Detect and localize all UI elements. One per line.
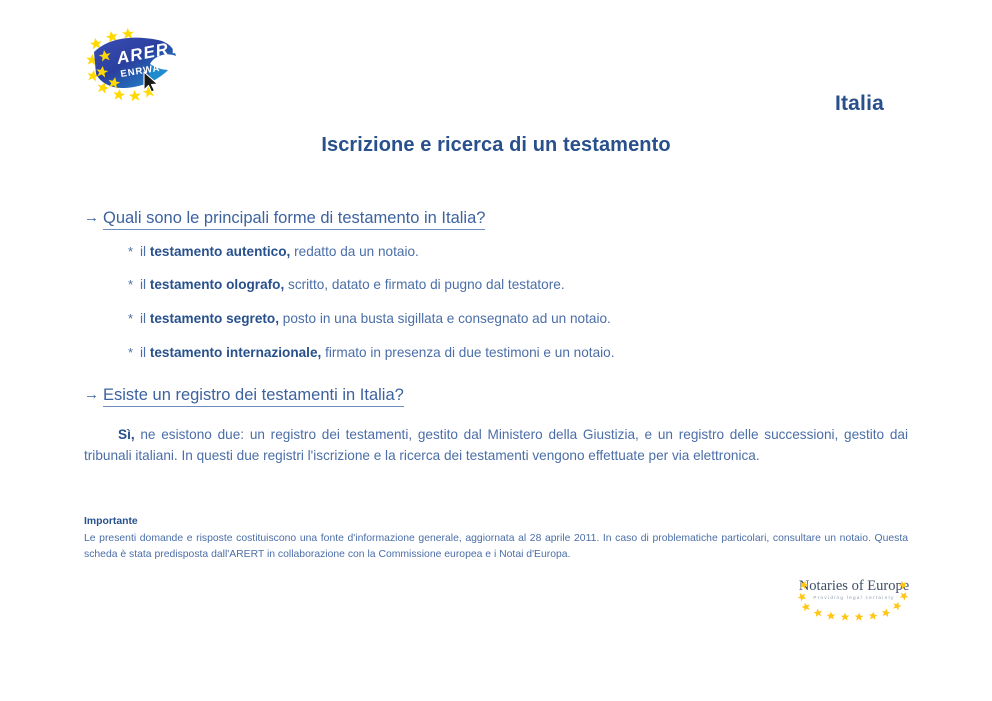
answer-body: ne esistono due: un registro dei testame… — [84, 427, 908, 463]
arrow-right-icon: → — [84, 209, 99, 226]
answer-paragraph: Sì, ne esistono due: un registro dei tes… — [84, 424, 908, 466]
bullet-asterisk-icon: * — [128, 277, 133, 294]
footer-disclaimer: Importante Le presenti domande e rispost… — [84, 514, 908, 563]
document-content: →Quali sono le principali forme di testa… — [84, 206, 908, 466]
question-heading-2: →Esiste un registro dei testamenti in It… — [84, 383, 908, 408]
question-heading-1-text: Quali sono le principali forme di testam… — [103, 209, 485, 230]
notaries-logo-name: Notaries of Europe — [799, 578, 909, 594]
list-item-term: testamento autentico, — [150, 244, 291, 259]
list-item-lead: il — [140, 244, 150, 259]
notaries-of-europe-logo: Notaries of Europe Providing legal certa… — [795, 572, 913, 622]
list-item: *il testamento autentico, redatto da un … — [84, 243, 908, 261]
footer-title: Importante — [84, 514, 908, 530]
page-title: Iscrizione e ricerca di un testamento — [0, 134, 992, 157]
list-item-lead: il — [140, 277, 150, 292]
bullet-asterisk-icon: * — [128, 311, 133, 328]
bullet-asterisk-icon: * — [128, 244, 133, 261]
footer-body: Le presenti domande e risposte costituis… — [84, 533, 908, 560]
testament-forms-list: *il testamento autentico, redatto da un … — [84, 243, 908, 362]
list-item: *il testamento internazionale, firmato i… — [84, 344, 908, 362]
answer-lead: Sì, — [118, 427, 135, 442]
country-title: Italia — [835, 92, 884, 116]
list-item-description: firmato in presenza di due testimoni e u… — [321, 345, 614, 360]
bullet-asterisk-icon: * — [128, 345, 133, 362]
list-item-description: posto in una busta sigillata e consegnat… — [279, 311, 611, 326]
list-item: *il testamento olografo, scritto, datato… — [84, 276, 908, 294]
list-item-term: testamento olografo, — [150, 277, 284, 292]
list-item-lead: il — [140, 311, 150, 326]
arert-logo: ARERT ENRWA — [82, 26, 188, 104]
arrow-right-icon: → — [84, 386, 99, 403]
list-item-description: scritto, datato e firmato di pugno dal t… — [284, 277, 564, 292]
list-item-lead: il — [140, 345, 150, 360]
list-item-term: testamento internazionale, — [150, 345, 321, 360]
notaries-logo-tagline: Providing legal certainty — [813, 595, 894, 600]
list-item: *il testamento segreto, posto in una bus… — [84, 310, 908, 328]
question-heading-2-text: Esiste un registro dei testamenti in Ita… — [103, 386, 404, 407]
question-heading-1: →Quali sono le principali forme di testa… — [84, 206, 908, 231]
list-item-description: redatto da un notaio. — [290, 244, 418, 259]
list-item-term: testamento segreto, — [150, 311, 279, 326]
